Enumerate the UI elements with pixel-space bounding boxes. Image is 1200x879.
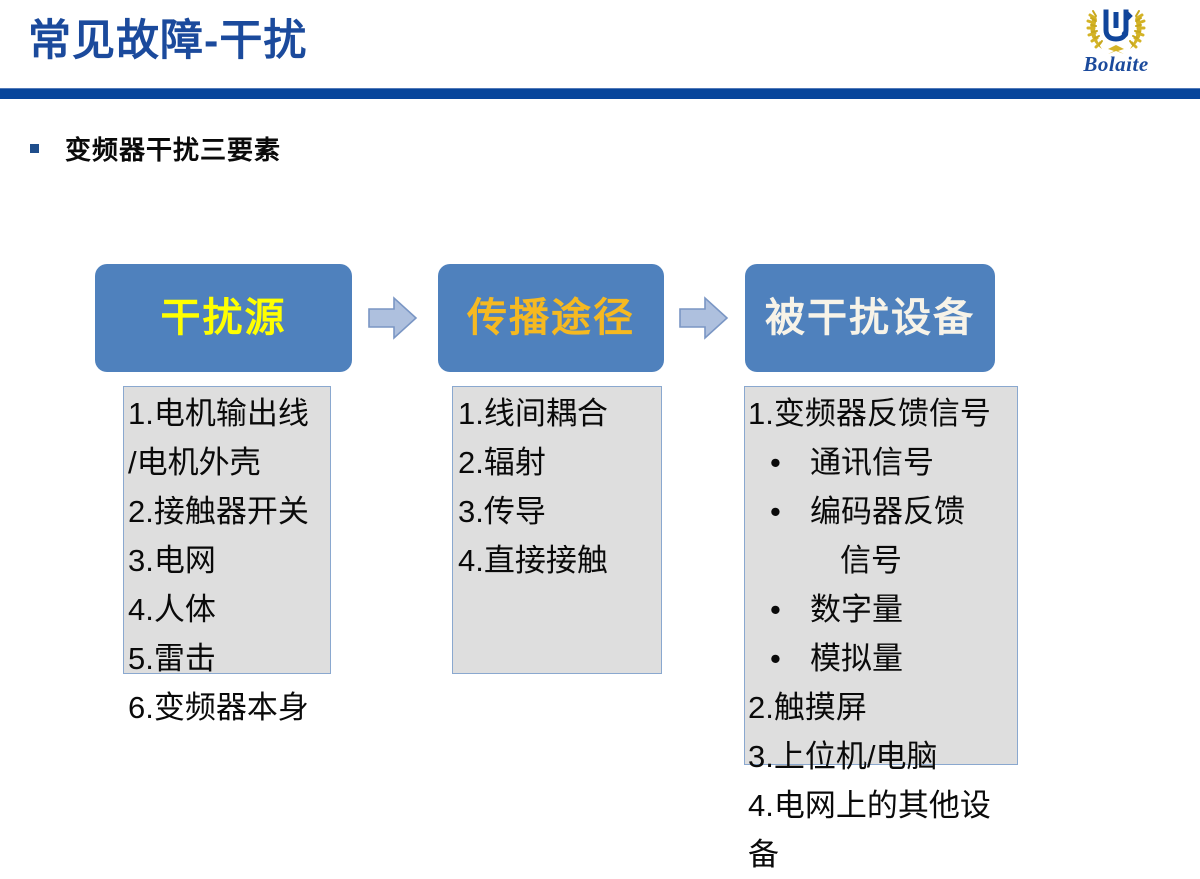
round-bullet-icon: •: [770, 438, 781, 487]
list-item: •通讯信号: [748, 438, 991, 487]
list-item-label: 6.变频器本身: [128, 690, 309, 725]
detail-list-1: 1.电机输出线/电机外壳2.接触器开关3.电网4.人体5.雷击6.变频器本身: [128, 389, 309, 732]
list-item-label: 备: [748, 837, 779, 872]
list-item-label: 3.传导: [458, 494, 546, 529]
list-item-label: /电机外壳: [128, 445, 261, 480]
flow-stage-heading-1[interactable]: 干扰源: [95, 264, 352, 372]
list-item-label: 通讯信号: [810, 445, 934, 480]
flow-stage-heading-2[interactable]: 传播途径: [438, 264, 664, 372]
list-item: 信号: [748, 536, 991, 585]
lead-bullet-label: 变频器干扰三要素: [65, 130, 281, 167]
round-bullet-icon: •: [770, 487, 781, 536]
list-item-label: 2.接触器开关: [128, 494, 309, 529]
list-item-label: 信号: [840, 543, 902, 578]
list-item: 4.人体: [128, 585, 309, 634]
flow-stage-heading-label-3: 被干扰设备: [765, 298, 975, 338]
list-item: /电机外壳: [128, 438, 309, 487]
list-item: 1.变频器反馈信号: [748, 389, 991, 438]
list-item-label: 3.电网: [128, 543, 216, 578]
list-item: 6.变频器本身: [128, 683, 309, 732]
detail-list-3: 1.变频器反馈信号•通讯信号•编码器反馈信号•数字量•模拟量2.触摸屏3.上位机…: [748, 389, 991, 879]
list-item-label: 5.雷击: [128, 641, 216, 676]
list-item-label: 2.辐射: [458, 445, 546, 480]
lead-bullet-row: 变频器干扰三要素: [30, 130, 281, 167]
list-item: 2.触摸屏: [748, 683, 991, 732]
list-item: 3.电网: [128, 536, 309, 585]
flow-stage-heading-label-2: 传播途径: [467, 298, 635, 338]
detail-list-2: 1.线间耦合2.辐射3.传导4.直接接触: [458, 389, 608, 585]
list-item: 备: [748, 830, 991, 879]
list-item-label: 1.电机输出线: [128, 396, 309, 431]
square-bullet-icon: [30, 144, 39, 153]
list-item: 4.电网上的其他设: [748, 781, 991, 830]
list-item-label: 4.电网上的其他设: [748, 788, 991, 823]
header-divider: [0, 88, 1200, 99]
list-item: 1.线间耦合: [458, 389, 608, 438]
arrow-right-icon-2: [679, 296, 729, 340]
flow-stage-heading-3[interactable]: 被干扰设备: [745, 264, 995, 372]
list-item: 3.上位机/电脑: [748, 732, 991, 781]
brand-logo: Bolaite: [1060, 4, 1172, 84]
round-bullet-icon: •: [770, 634, 781, 683]
list-item: •模拟量: [748, 634, 991, 683]
list-item-label: 数字量: [810, 592, 903, 627]
list-item-label: 4.直接接触: [458, 543, 608, 578]
list-item-label: 3.上位机/电脑: [748, 739, 937, 774]
slide-header: 常见故障-干扰: [0, 0, 1200, 100]
list-item-label: 4.人体: [128, 592, 216, 627]
page-title: 常见故障-干扰: [28, 20, 307, 63]
list-item-label: 1.线间耦合: [458, 396, 608, 431]
list-item: 3.传导: [458, 487, 608, 536]
list-item: •数字量: [748, 585, 991, 634]
list-item: 1.电机输出线: [128, 389, 309, 438]
list-item-label: 2.触摸屏: [748, 690, 867, 725]
list-item: •编码器反馈: [748, 487, 991, 536]
bolaite-wreath-emblem-icon: [1084, 4, 1148, 56]
list-item-label: 编码器反馈: [810, 494, 965, 529]
list-item: 2.接触器开关: [128, 487, 309, 536]
flow-stage-heading-label-1: 干扰源: [161, 298, 287, 338]
list-item: 2.辐射: [458, 438, 608, 487]
brand-wordmark: Bolaite: [1060, 54, 1172, 75]
list-item-label: 模拟量: [810, 641, 903, 676]
list-item-label: 1.变频器反馈信号: [748, 396, 991, 431]
round-bullet-icon: •: [770, 585, 781, 634]
arrow-right-icon-1: [368, 296, 418, 340]
list-item: 5.雷击: [128, 634, 309, 683]
list-item: 4.直接接触: [458, 536, 608, 585]
